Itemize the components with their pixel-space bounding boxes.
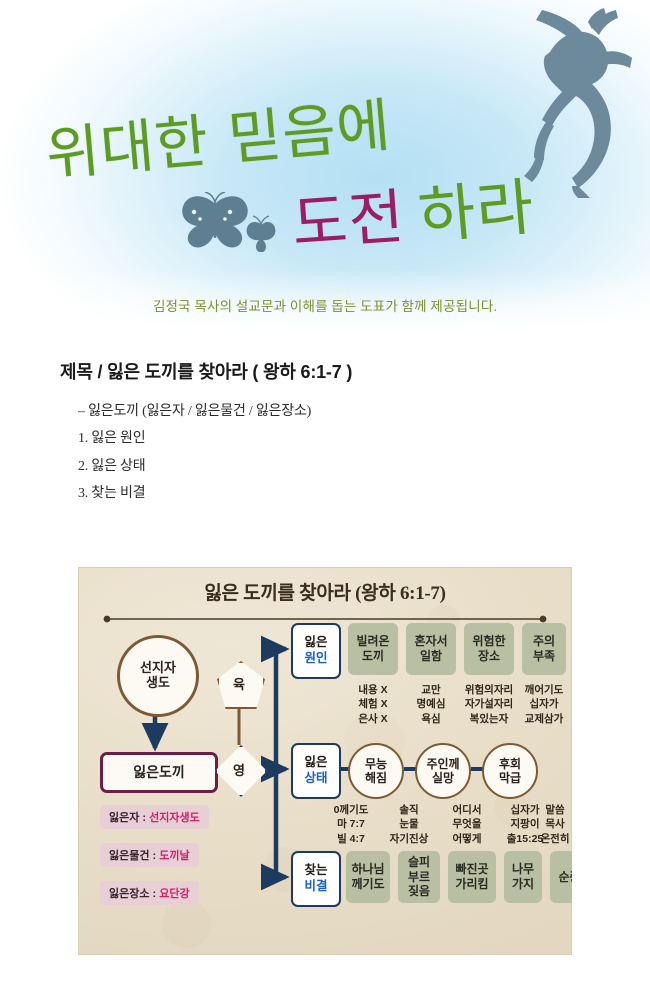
cause-card-line2: 부족	[533, 649, 555, 664]
headline-line-2-green: 하라	[414, 156, 537, 256]
cause-sub-line3: 은사 X	[344, 712, 402, 726]
page-title: 제목 / 잃은 도끼를 찾아라 ( 왕하 6:1-7 )	[60, 358, 650, 384]
info-tag-value: 선지자생도	[149, 812, 200, 824]
secret-card-line1: 순종함	[558, 870, 572, 885]
section-label-state-bottom: 상태	[304, 771, 327, 787]
info-tag-value: 요단강	[159, 888, 189, 900]
cause-sub-line2: 명예심	[402, 697, 460, 711]
secret-card-line3: 짖음	[408, 884, 430, 899]
cause-card-line1: 혼자서	[414, 634, 447, 649]
cause-card: 주의 부족	[522, 623, 566, 675]
info-tag-value: 도끼날	[159, 850, 189, 862]
state-sub: 솔직 눈물 자기진상	[380, 803, 438, 846]
cause-card: 위험한 장소	[464, 623, 514, 675]
cause-sub-line3: 복있는자	[459, 712, 519, 726]
section-label-state: 잃은 상태	[291, 743, 341, 799]
section-label-secret-top: 찾는	[304, 863, 327, 879]
header-banner: 위대한 믿음에 도전 하라 김정국 목사의 설교문과 이해를 돕는 도표가 함께…	[0, 0, 650, 340]
secret-card-line1: 슬피	[408, 855, 430, 870]
cause-card-line2: 도끼	[356, 649, 389, 664]
state-sub: 0께기도 마 7:7 빌 4:7	[322, 803, 380, 846]
secret-card-line1: 하나님	[351, 862, 384, 877]
secret-card-line2: 가리킴	[455, 877, 488, 892]
state-sub-line1: 어디서	[438, 803, 496, 817]
cause-sub-line3: 교제삼가	[516, 712, 572, 726]
state-card-line2: 해짐	[365, 771, 387, 785]
state-sub-line3: 자기진상	[380, 832, 438, 846]
cause-sub-line3: 욕심	[402, 712, 460, 726]
info-tag-lost-place: 잃은장소 : 요단강	[100, 881, 199, 905]
node-lost-axe-box: 잃은도끼	[100, 752, 218, 793]
node-source-line2: 생도	[140, 676, 176, 691]
section-label-cause-bottom: 원인	[304, 651, 327, 667]
node-pentagon-flesh-label: 육	[217, 661, 261, 705]
butterfly-silhouette-icon	[175, 192, 285, 257]
cause-sub: 깨어기도 십자가 교제삼가	[516, 683, 572, 726]
cause-sub-line2: 자가설자리	[459, 697, 519, 711]
secret-card-line1: 빠진곳	[455, 862, 488, 877]
cause-sub-line1: 내용 X	[344, 683, 402, 697]
state-card: 주인께 실망	[415, 743, 471, 799]
secret-card-line2: 가지	[512, 877, 534, 892]
cause-card-line1: 위험한	[472, 634, 505, 649]
secret-card: 슬피 부르 짖음	[398, 851, 440, 903]
state-sub-line3: 어떻게	[438, 832, 496, 846]
state-card-line2: 실망	[426, 771, 459, 785]
list-item: 2. 잃은 상태	[78, 453, 650, 480]
outline-list: – 잃은도끼 (잃은자 / 잃은물건 / 잃은장소) 1. 잃은 원인 2. 잃…	[0, 398, 650, 507]
title-divider	[103, 615, 547, 623]
headline-line-2-pink: 도전	[289, 168, 407, 263]
info-tag-label: 잃은물건 :	[109, 850, 159, 862]
cause-sub: 교만 명예심 욕심	[402, 683, 460, 726]
secret-card-line2: 께기도	[351, 877, 384, 892]
cause-card-line2: 일함	[414, 649, 447, 664]
info-tag-lost-person: 잃은자 : 선지자생도	[100, 805, 209, 829]
cause-card-line1: 빌려온	[356, 634, 389, 649]
cause-sub-line2: 십자가	[516, 697, 572, 711]
state-sub-line1: 0께기도	[322, 803, 380, 817]
state-sub: 말씀 목사 온전히	[533, 803, 572, 846]
cause-sub-line2: 체험 X	[344, 697, 402, 711]
cause-sub: 내용 X 체험 X 은사 X	[344, 683, 402, 726]
state-card: 무능 해짐	[348, 743, 404, 799]
secret-card: 나무 가지	[504, 851, 542, 903]
section-label-secret: 찾는 비결	[291, 851, 341, 907]
sermon-outline: 제목 / 잃은 도끼를 찾아라 ( 왕하 6:1-7 ) – 잃은도끼 (잃은자…	[0, 358, 650, 507]
info-tag-label: 잃은자 :	[109, 812, 149, 824]
secret-card: 하나님 께기도	[346, 851, 390, 903]
info-tag-label: 잃은장소 :	[109, 888, 159, 900]
state-sub-line2: 마 7:7	[322, 817, 380, 831]
list-item: 3. 찾는 비결	[78, 480, 650, 507]
state-card-line1: 무능	[365, 757, 387, 771]
section-label-cause-top: 잃은	[304, 635, 327, 651]
state-sub-line1: 말씀	[533, 803, 572, 817]
info-tag-lost-item: 잃은물건 : 도끼날	[100, 843, 199, 867]
cause-sub: 위험의자리 자가설자리 복있는자	[459, 683, 519, 726]
state-card: 후회 막급	[482, 743, 538, 799]
cause-sub-line1: 깨어기도	[516, 683, 572, 697]
state-card-line1: 후회	[499, 757, 521, 771]
cause-card: 혼자서 일함	[406, 623, 456, 675]
list-item: – 잃은도끼 (잃은자 / 잃은물건 / 잃은장소)	[78, 398, 650, 425]
cause-card: 빌려온 도끼	[348, 623, 398, 675]
section-label-secret-bottom: 비결	[304, 879, 327, 895]
secret-card-line2: 부르	[408, 870, 430, 885]
state-card-line1: 주인께	[426, 757, 459, 771]
secret-card-line1: 나무	[512, 862, 534, 877]
diagram-title: 잃은 도끼를 찾아라 (왕하 6:1-7)	[78, 578, 572, 605]
cause-card-line2: 장소	[472, 649, 505, 664]
secret-card: 빠진곳 가리킴	[448, 851, 496, 903]
cause-card-line1: 주의	[533, 634, 555, 649]
cause-sub-line1: 교만	[402, 683, 460, 697]
secret-card: 순종함	[550, 851, 572, 903]
node-diamond-spirit-label: 영	[215, 745, 263, 793]
state-card-line2: 막급	[499, 771, 521, 785]
section-label-cause: 잃은 원인	[291, 623, 341, 679]
state-sub-line1: 솔직	[380, 803, 438, 817]
state-sub-line2: 무엇을	[438, 817, 496, 831]
state-sub: 어디서 무엇을 어떻게	[438, 803, 496, 846]
state-sub-line3: 온전히	[533, 832, 572, 846]
state-sub-line3: 빌 4:7	[322, 832, 380, 846]
section-label-state-top: 잃은	[304, 755, 327, 771]
cause-sub-line1: 위험의자리	[459, 683, 519, 697]
state-sub-line2: 목사	[533, 817, 572, 831]
banner-subtitle: 김정국 목사의 설교문과 이해를 돕는 도표가 함께 제공됩니다.	[0, 295, 650, 315]
sermon-diagram: 잃은 도끼를 찾아라 (왕하 6:1-7) 선지자	[78, 567, 572, 955]
node-source-circle: 선지자 생도	[117, 635, 199, 717]
list-item: 1. 잃은 원인	[78, 425, 650, 452]
node-source-line1: 선지자	[140, 661, 176, 676]
state-sub-line2: 눈물	[380, 817, 438, 831]
